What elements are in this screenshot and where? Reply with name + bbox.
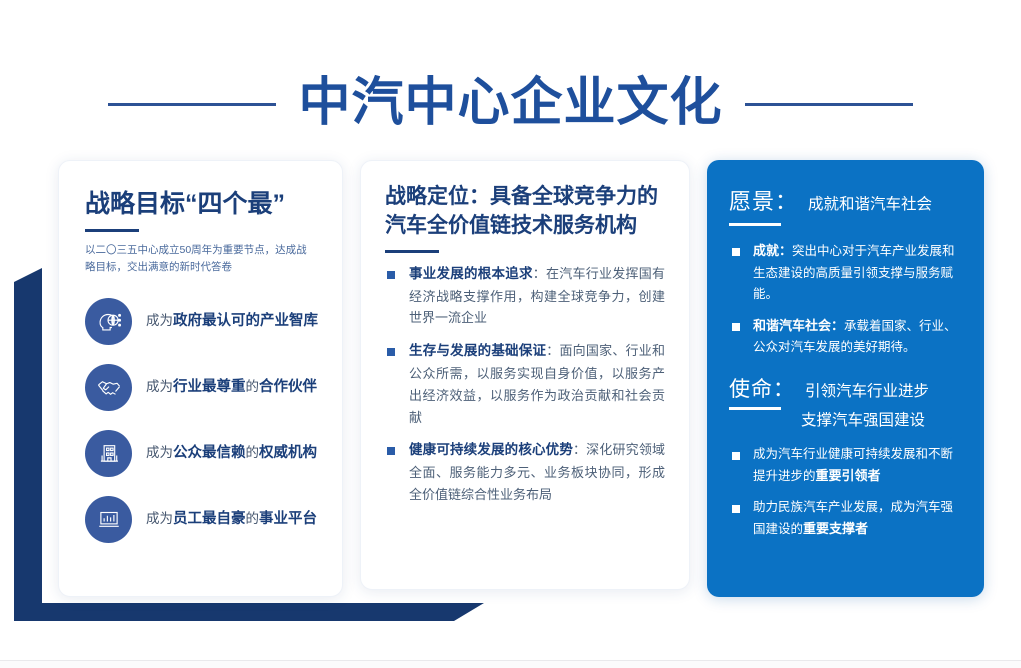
vision-bullet-list: 成就：突出中心对于汽车产业发展和生态建设的高质量引领支撑与服务赋能。 和谐汽车社… bbox=[729, 240, 964, 359]
title-rule-left bbox=[108, 103, 276, 106]
vision-label: 愿景： bbox=[729, 184, 798, 216]
mission-line-2: 支撑汽车强国建设 bbox=[801, 408, 964, 430]
list-item-strong: 事业发展的根本追求 bbox=[409, 266, 533, 281]
mission-line-1: 引领汽车行业进步 bbox=[805, 379, 929, 401]
card2-bullet-list: 事业发展的根本追求：在汽车行业发挥国有经济战略支撑作用，构建全球竞争力，创建世界… bbox=[385, 263, 665, 506]
chart-platform-icon bbox=[85, 496, 132, 543]
page-title: 中汽中心企业文化 bbox=[298, 77, 722, 129]
list-item: 成为公众最信赖的权威机构 bbox=[85, 430, 318, 477]
card1-goal-list: 成为政府最认可的产业智库 成为行业最尊重的合作伙伴 bbox=[85, 298, 318, 543]
list-item-strong: 成就： bbox=[753, 243, 792, 258]
list-item: 成为汽车行业健康可持续发展和不断提升进步的重要引领者 bbox=[729, 444, 964, 488]
footer-divider bbox=[0, 660, 1021, 668]
vision-value: 成就和谐汽车社会 bbox=[808, 192, 932, 214]
vision-underline bbox=[729, 223, 781, 226]
poster-header: 中汽中心企业文化 bbox=[0, 58, 1021, 148]
poster-canvas: 中汽中心企业文化 战略目标“四个最” 以二〇三五中心成立50周年为重要节点，达成… bbox=[0, 0, 1021, 668]
card2-title-underline bbox=[385, 250, 439, 253]
card-strategic-goals: 战略目标“四个最” 以二〇三五中心成立50周年为重要节点，达成战略目标，交出满意… bbox=[58, 160, 343, 597]
list-item-label: 成为公众最信赖的权威机构 bbox=[146, 444, 317, 463]
title-rule-right bbox=[745, 103, 913, 106]
list-item-strong: 和谐汽车社会： bbox=[753, 318, 844, 333]
list-item: 生存与发展的基础保证：面向国家、行业和公众所需，以服务实现自身价值，以服务产出经… bbox=[385, 340, 665, 428]
list-item-strong: 健康可持续发展的核心优势 bbox=[409, 442, 573, 457]
list-item-strong: 生存与发展的基础保证 bbox=[409, 343, 546, 358]
cards-row: 战略目标“四个最” 以二〇三五中心成立50周年为重要节点，达成战略目标，交出满意… bbox=[0, 160, 1021, 605]
mission-label: 使命： bbox=[729, 373, 795, 403]
vision-heading: 愿景： 成就和谐汽车社会 bbox=[729, 184, 964, 216]
list-item: 成为员工最自豪的事业平台 bbox=[85, 496, 318, 543]
card-vision-mission: 愿景： 成就和谐汽车社会 成就：突出中心对于汽车产业发展和生态建设的高质量引领支… bbox=[707, 160, 984, 597]
list-item: 健康可持续发展的核心优势：深化研究领域全面、服务能力多元、业务板块协同，形成全价… bbox=[385, 439, 665, 505]
list-item-label: 成为政府最认可的产业智库 bbox=[146, 312, 318, 331]
list-item-strong: 重要支撑者 bbox=[803, 521, 868, 536]
list-item: 成为政府最认可的产业智库 bbox=[85, 298, 318, 345]
list-item-label: 成为行业最尊重的合作伙伴 bbox=[146, 378, 317, 397]
card1-subtitle: 以二〇三五中心成立50周年为重要节点，达成战略目标，交出满意的新时代答卷 bbox=[85, 242, 315, 276]
list-item: 成就：突出中心对于汽车产业发展和生态建设的高质量引领支撑与服务赋能。 bbox=[729, 240, 964, 306]
card1-title-underline bbox=[85, 229, 139, 232]
list-item-strong: 重要引领者 bbox=[816, 468, 881, 483]
list-item: 成为行业最尊重的合作伙伴 bbox=[85, 364, 318, 411]
list-item-label: 成为员工最自豪的事业平台 bbox=[146, 510, 317, 529]
list-item: 事业发展的根本追求：在汽车行业发挥国有经济战略支撑作用，构建全球竞争力，创建世界… bbox=[385, 263, 665, 329]
card1-title: 战略目标“四个最” bbox=[85, 189, 318, 220]
list-item: 和谐汽车社会：承载着国家、行业、公众对汽车发展的美好期待。 bbox=[729, 315, 964, 359]
mission-underline bbox=[729, 407, 781, 410]
card2-title: 战略定位：具备全球竞争力的汽车全价值链技术服务机构 bbox=[385, 183, 665, 241]
list-item: 助力民族汽车产业发展，成为汽车强国建设的重要支撑者 bbox=[729, 497, 964, 541]
mission-bullet-list: 成为汽车行业健康可持续发展和不断提升进步的重要引领者 助力民族汽车产业发展，成为… bbox=[729, 444, 964, 541]
think-tank-head-icon bbox=[85, 298, 132, 345]
mission-heading: 使命： 引领汽车行业进步 支撑汽车强国建设 bbox=[729, 373, 964, 430]
institution-building-icon bbox=[85, 430, 132, 477]
card-strategic-positioning: 战略定位：具备全球竞争力的汽车全价值链技术服务机构 事业发展的根本追求：在汽车行… bbox=[360, 160, 690, 590]
handshake-icon bbox=[85, 364, 132, 411]
